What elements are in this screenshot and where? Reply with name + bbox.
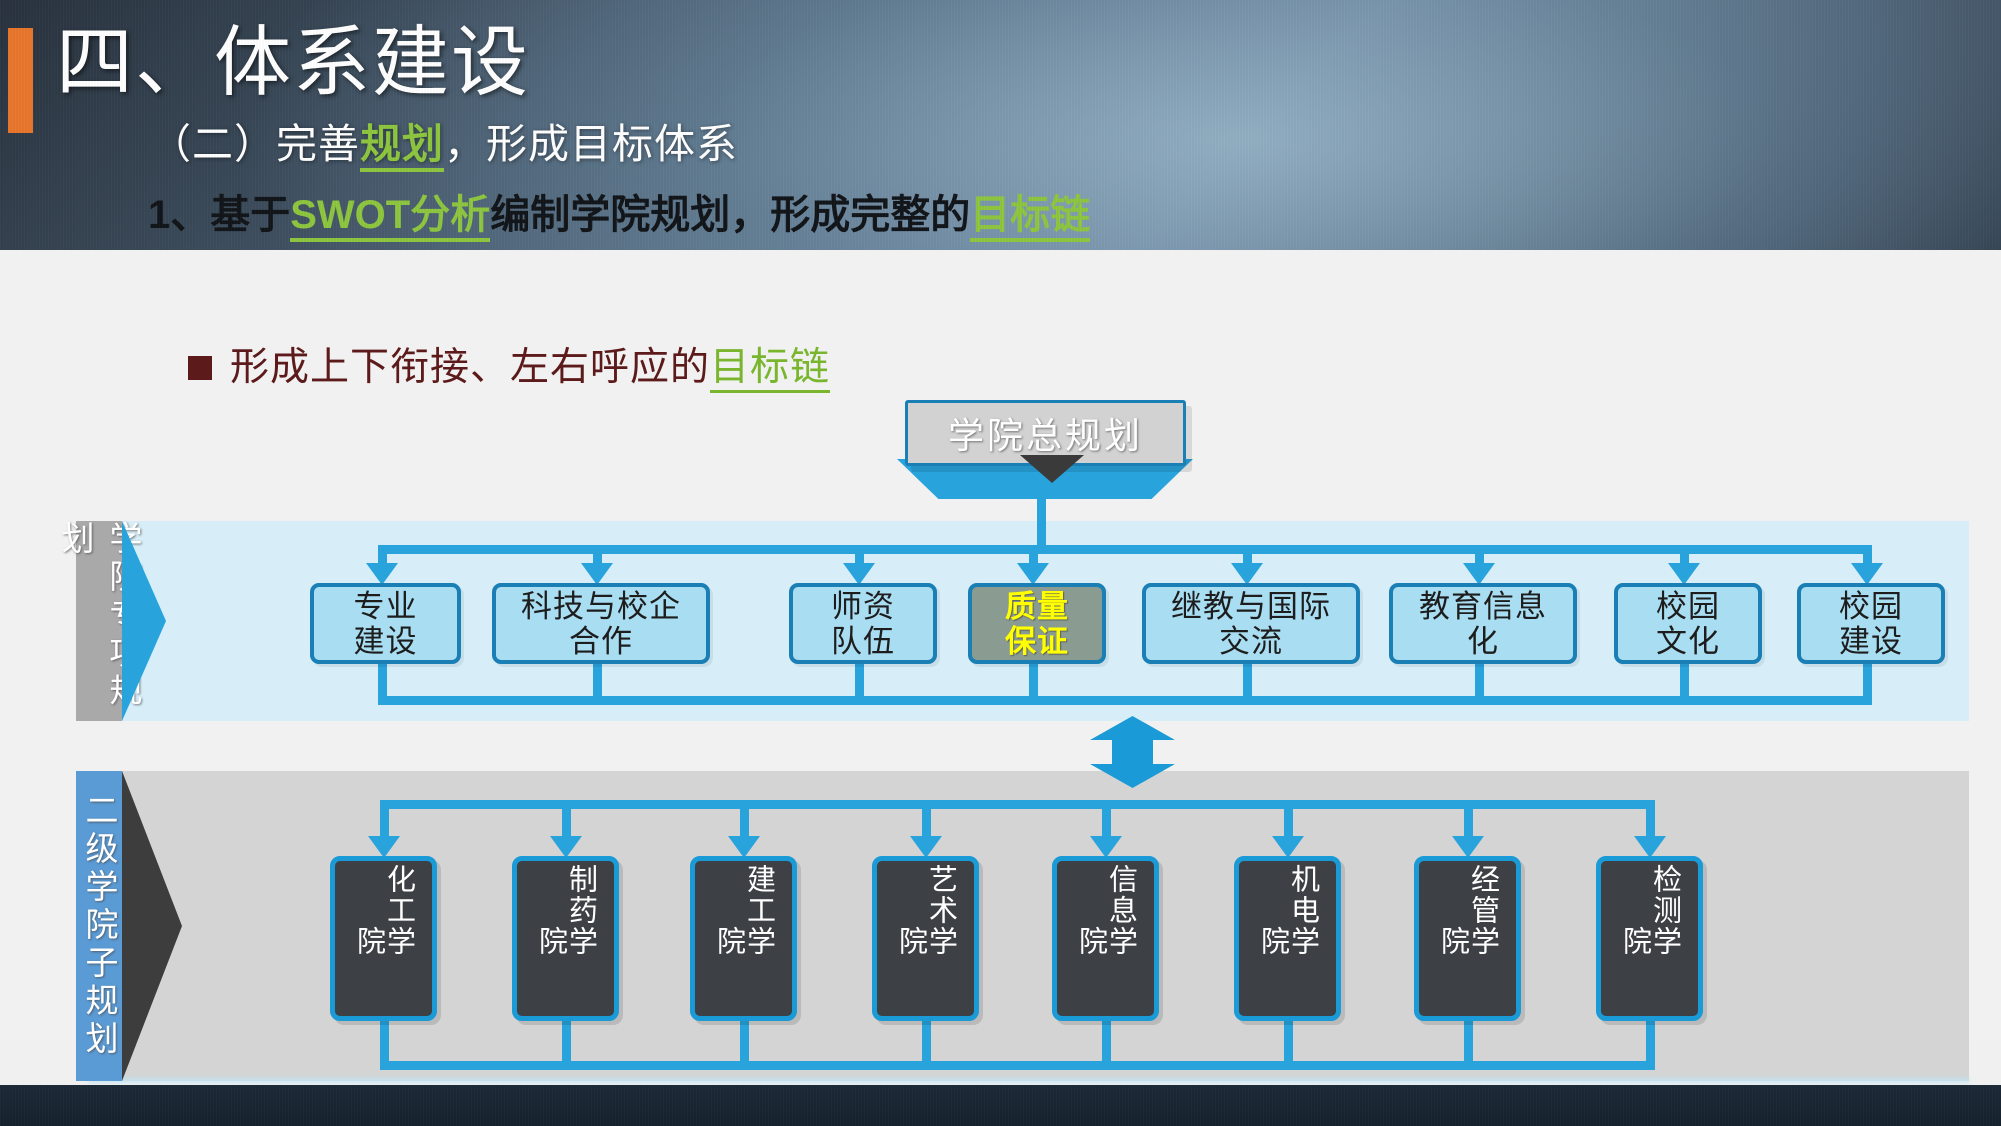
college-box-6-text: 机电学院 xyxy=(1258,858,1318,1019)
slide: 四、体系建设 （二）完善规划，形成目标体系 1、基于SWOT分析编制学院规划，形… xyxy=(0,0,2001,1126)
tab-secondary-college-plan: 二级学院子规划 xyxy=(76,771,182,1081)
subtitle-prefix: （二）完善 xyxy=(150,121,360,167)
arrow-down-row2-6 xyxy=(1272,836,1304,858)
college-box-6-main: 机电学 xyxy=(1288,864,1318,957)
college-box-8[interactable]: 检测学院 xyxy=(1596,856,1703,1021)
plan-box-8[interactable]: 校园建设 xyxy=(1797,583,1945,664)
slide-footer xyxy=(0,1085,2001,1126)
arrow-down-row1-1 xyxy=(366,563,398,585)
college-box-5-text: 信息学院 xyxy=(1076,858,1136,1019)
drop-line-row1-2 xyxy=(593,545,602,565)
subtitle-highlight: 规划 xyxy=(360,121,444,172)
arrow-down-row1-6 xyxy=(1463,563,1495,585)
plan-box-2[interactable]: 科技与校企合作 xyxy=(492,583,710,664)
arrow-down-row1-4 xyxy=(1017,563,1049,585)
arrow-down-row2-8 xyxy=(1634,836,1666,858)
slide-subtitle: （二）完善规划，形成目标体系 xyxy=(150,118,738,170)
heading-highlight-goalchain: 目标链 xyxy=(970,193,1090,242)
tab-arrow-right-icon xyxy=(122,521,166,721)
heading-highlight-swot: SWOT分析 xyxy=(290,193,490,242)
plan-box-5[interactable]: 继教与国际交流 xyxy=(1142,583,1360,664)
arrow-down-row2-5 xyxy=(1090,836,1122,858)
drop-line-row2-2 xyxy=(562,800,571,838)
tab-secondary-college-plan-label: 二级学院子规划 xyxy=(75,793,123,1059)
master-plan-node[interactable]: 学院总规划 xyxy=(905,400,1186,466)
drop-line-row2-6 xyxy=(1284,800,1293,838)
college-box-6[interactable]: 机电学院 xyxy=(1234,856,1341,1021)
tab-college-special-plan: 学院专项规划 xyxy=(76,521,166,721)
college-box-5-suffix: 院 xyxy=(1076,926,1106,957)
tab-secondary-college-plan-bar: 二级学院子规划 xyxy=(76,771,122,1081)
arrow-down-row1-8 xyxy=(1851,563,1883,585)
bullet-text-main: 形成上下衔接、左右呼应的 xyxy=(230,346,710,389)
college-box-3-text: 建工学院 xyxy=(714,858,774,1019)
college-box-1[interactable]: 化工学院 xyxy=(330,856,437,1021)
arrow-down-row2-3 xyxy=(728,836,760,858)
plan-box-3-label: 师资队伍 xyxy=(831,589,895,659)
college-box-2-main: 制药学 xyxy=(566,864,596,957)
college-box-5-main: 信息学 xyxy=(1106,864,1136,957)
college-box-6-suffix: 院 xyxy=(1258,926,1288,957)
college-box-3-main: 建工学 xyxy=(744,864,774,957)
subtitle-suffix: ，形成目标体系 xyxy=(444,121,738,167)
master-plan-triangle-icon xyxy=(1020,455,1084,483)
drop-line-row2-1 xyxy=(380,800,389,838)
drop-line-row2-4 xyxy=(922,800,931,838)
college-box-8-main: 检测学 xyxy=(1650,864,1680,957)
horizontal-bus-row1-bottom xyxy=(378,696,1873,705)
heading-part-a: 1、基于 xyxy=(148,193,290,237)
arrow-down-row2-4 xyxy=(910,836,942,858)
college-box-4[interactable]: 艺术学院 xyxy=(872,856,979,1021)
college-box-7-text: 经管学院 xyxy=(1438,858,1498,1019)
plan-box-1[interactable]: 专业建设 xyxy=(310,583,461,664)
arrow-down-row1-2 xyxy=(581,563,613,585)
band-bottom-glow xyxy=(88,1078,1969,1083)
heading-part-b: 编制学院规划，形成完整的 xyxy=(490,193,970,237)
plan-box-7[interactable]: 校园文化 xyxy=(1614,583,1762,664)
horizontal-bus-row2-bottom xyxy=(380,1061,1655,1070)
section-heading-1: 1、基于SWOT分析编制学院规划，形成完整的目标链 xyxy=(148,190,1090,240)
bullet-text-highlight: 目标链 xyxy=(710,346,830,393)
tab-arrow-right-dark-icon xyxy=(122,771,182,1081)
drop-line-row2-7 xyxy=(1464,800,1473,838)
college-box-8-text: 检测学院 xyxy=(1620,858,1680,1019)
college-box-2[interactable]: 制药学院 xyxy=(512,856,619,1021)
college-box-5[interactable]: 信息学院 xyxy=(1052,856,1159,1021)
drop-line-row1-3 xyxy=(855,545,864,565)
drop-line-row2-8 xyxy=(1646,800,1655,838)
plan-box-4-label: 质量保证 xyxy=(1005,589,1069,659)
bidirectional-arrow-icon xyxy=(1075,716,1190,788)
plan-box-8-label: 校园建设 xyxy=(1839,589,1903,659)
orange-accent-bar xyxy=(8,28,33,133)
college-box-4-text: 艺术学院 xyxy=(896,858,956,1019)
arrow-down-row1-3 xyxy=(843,563,875,585)
college-box-3-suffix: 院 xyxy=(714,926,744,957)
plan-box-6-label: 教育信息化 xyxy=(1419,589,1547,659)
drop-line-row1-8 xyxy=(1863,545,1872,565)
plan-box-6[interactable]: 教育信息化 xyxy=(1389,583,1577,664)
college-box-7-suffix: 院 xyxy=(1438,926,1468,957)
drop-line-row1-4 xyxy=(1029,545,1038,565)
drop-line-row2-3 xyxy=(740,800,749,838)
plan-box-4[interactable]: 质量保证 xyxy=(968,583,1106,664)
arrow-down-row1-5 xyxy=(1231,563,1263,585)
drop-line-row1-5 xyxy=(1243,545,1252,565)
arrow-down-row2-2 xyxy=(550,836,582,858)
plan-box-7-label: 校园文化 xyxy=(1656,589,1720,659)
college-box-4-suffix: 院 xyxy=(896,926,926,957)
college-box-1-main: 化工学 xyxy=(384,864,414,957)
page-title: 四、体系建设 xyxy=(56,18,530,110)
plan-box-2-label: 科技与校企合作 xyxy=(521,589,681,659)
college-box-7[interactable]: 经管学院 xyxy=(1414,856,1521,1021)
bullet-item: 形成上下衔接、左右呼应的目标链 xyxy=(188,345,830,391)
arrow-down-row2-7 xyxy=(1452,836,1484,858)
arrow-down-row2-1 xyxy=(368,836,400,858)
bullet-square-icon xyxy=(188,356,212,380)
college-box-2-suffix: 院 xyxy=(536,926,566,957)
college-box-2-text: 制药学院 xyxy=(536,858,596,1019)
college-box-7-main: 经管学 xyxy=(1468,864,1498,957)
drop-line-row1-1 xyxy=(378,545,387,565)
arrow-down-row1-7 xyxy=(1668,563,1700,585)
drop-line-row2-5 xyxy=(1102,800,1111,838)
plan-box-1-label: 专业建设 xyxy=(354,589,418,659)
plan-box-5-label: 继教与国际交流 xyxy=(1171,589,1331,659)
college-box-4-main: 艺术学 xyxy=(926,864,956,957)
master-plan-label: 学院总规划 xyxy=(948,407,1143,459)
plan-box-3[interactable]: 师资队伍 xyxy=(789,583,937,664)
tab-college-special-plan-bar: 学院专项规划 xyxy=(76,521,122,721)
drop-line-row1-7 xyxy=(1680,545,1689,565)
drop-line-row1-6 xyxy=(1475,545,1484,565)
college-box-8-suffix: 院 xyxy=(1620,926,1650,957)
college-box-3[interactable]: 建工学院 xyxy=(690,856,797,1021)
bullet-text: 形成上下衔接、左右呼应的目标链 xyxy=(230,345,830,391)
college-box-1-text: 化工学院 xyxy=(354,858,414,1019)
college-box-1-suffix: 院 xyxy=(354,926,384,957)
